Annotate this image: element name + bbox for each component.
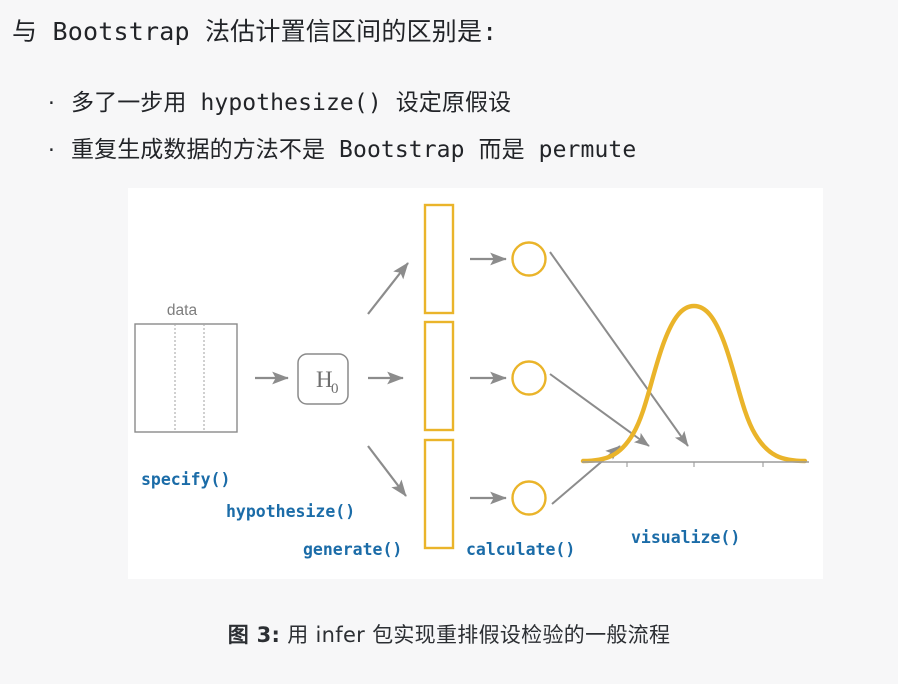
data-box-label: data — [167, 302, 198, 319]
statistics-group — [513, 243, 546, 515]
generated-sample-bar — [425, 205, 453, 313]
figure-caption-tag: 图 3: — [228, 623, 281, 647]
list-item-label: 重复生成数据的方法不是 Bootstrap 而是 permute — [71, 137, 636, 163]
figure-panel: data H 0 — [128, 188, 823, 579]
list-item-label: 多了一步用 hypothesize() 设定原假设 — [71, 90, 511, 116]
hypothesis-box-group: H 0 — [298, 354, 348, 404]
stage-label-generate: generate() — [303, 540, 402, 559]
page-title: 与 Bootstrap 法估计置信区间的区别是: — [12, 12, 497, 52]
arrow-statistic-to-distribution-1 — [550, 252, 688, 446]
stage-label-hypothesize: hypothesize() — [226, 502, 355, 521]
list-item: · 重复生成数据的方法不是 Bootstrap 而是 permute — [44, 127, 636, 174]
bullet-marker: · — [46, 80, 57, 127]
arrow-hypothesis-to-generate-bottom — [368, 446, 406, 496]
distribution-plot — [582, 306, 809, 467]
bullet-list: · 多了一步用 hypothesize() 设定原假设 · 重复生成数据的方法不… — [44, 80, 636, 174]
figure-caption: 图 3: 用 infer 包实现重排假设检验的一般流程 — [0, 619, 898, 649]
generated-samples-group — [425, 205, 453, 548]
stage-label-specify: specify() — [141, 470, 230, 489]
hypothesis-box-subscript: 0 — [331, 381, 339, 397]
list-item: · 多了一步用 hypothesize() 设定原假设 — [44, 80, 636, 127]
figure-caption-text: 用 infer 包实现重排假设检验的一般流程 — [280, 623, 670, 647]
statistic-circle — [513, 482, 546, 515]
statistic-circle — [513, 243, 546, 276]
bullet-marker: · — [46, 127, 57, 174]
generated-sample-bar — [425, 440, 453, 548]
slide-root: 与 Bootstrap 法估计置信区间的区别是: · 多了一步用 hypothe… — [0, 0, 898, 684]
distribution-curve — [583, 306, 805, 461]
arrow-hypothesis-to-generate-top — [368, 263, 408, 314]
stage-label-visualize: visualize() — [631, 528, 740, 547]
data-box — [135, 324, 237, 432]
stage-label-calculate: calculate() — [466, 540, 575, 559]
infer-workflow-diagram: data H 0 — [128, 188, 823, 579]
statistic-circle — [513, 362, 546, 395]
data-box-group: data — [135, 302, 237, 432]
generated-sample-bar — [425, 322, 453, 430]
